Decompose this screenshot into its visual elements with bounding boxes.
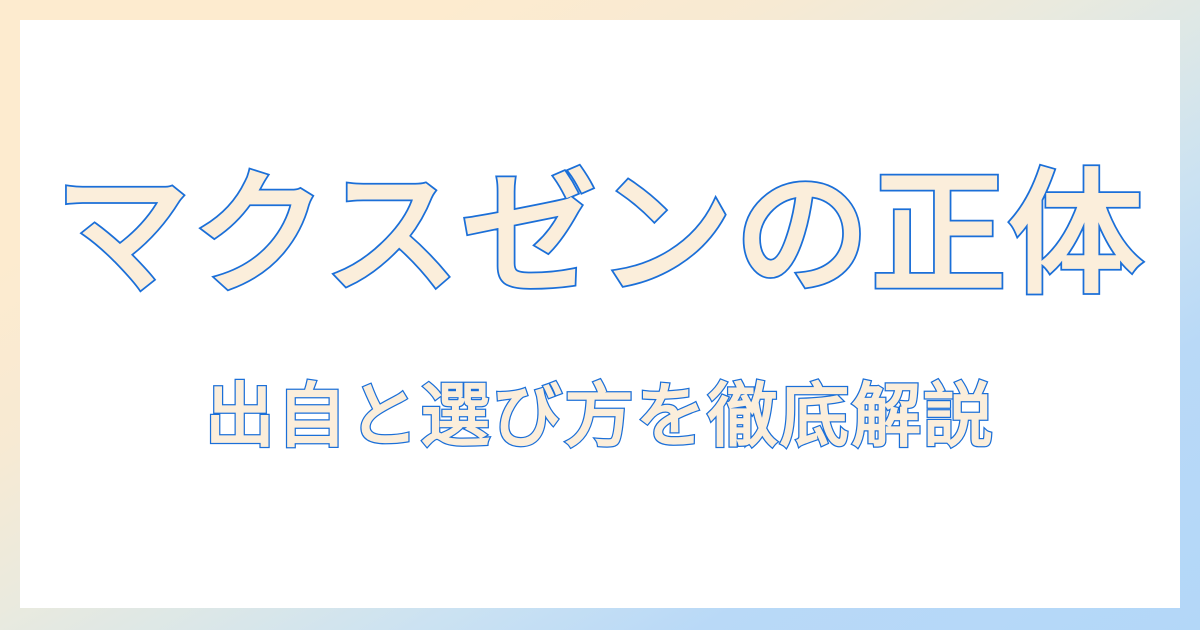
- subtitle-block: 出自と選び方を徹底解説: [0, 382, 1200, 452]
- page-subtitle: 出自と選び方を徹底解説: [205, 382, 995, 452]
- title-block: マクスゼンの正体: [0, 168, 1200, 303]
- white-content-card: [20, 20, 1180, 608]
- page-title: マクスゼンの正体: [55, 168, 1145, 303]
- thumbnail-canvas: マクスゼンの正体 出自と選び方を徹底解説: [0, 0, 1200, 630]
